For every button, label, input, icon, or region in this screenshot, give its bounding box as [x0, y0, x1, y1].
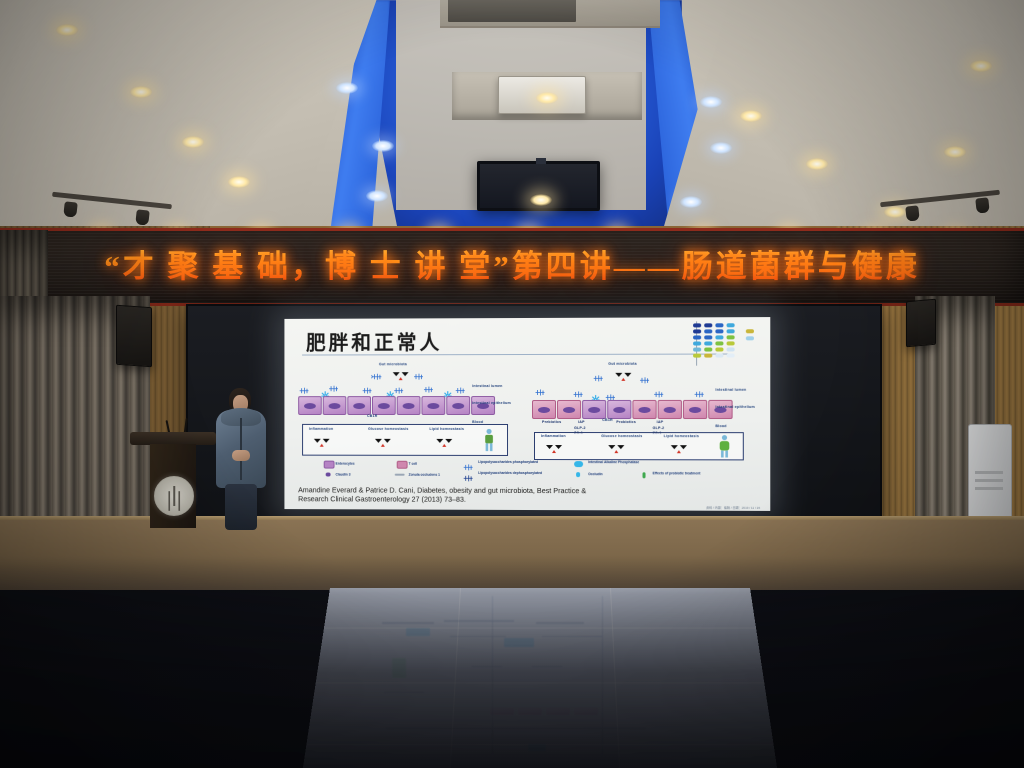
slide-legend: Enterocytes T cell Lipopolysaccharides p… [324, 460, 744, 487]
projected-slide: 肥胖和正常人 [284, 317, 770, 511]
legend-bacteria-phospho-icon [462, 459, 474, 468]
panel-left-summary-box: Inflammation Glucose homeostasis Lipid h… [302, 424, 508, 456]
legend-swatch-enterocytes [324, 461, 335, 469]
bacteria-icon [422, 381, 434, 390]
bacteria-icon [534, 384, 546, 393]
scale-balance-icon [545, 440, 563, 450]
citation-line-2: Research Clinical Gastroenterology 27 (2… [298, 495, 758, 506]
scale-balance-icon [614, 368, 632, 378]
downlight-icon [970, 60, 992, 72]
bacteria-icon [298, 382, 310, 391]
legend-swatch-probiotic [643, 472, 646, 478]
scale-balance-icon [670, 440, 688, 450]
legend-swatch-zo1 [395, 474, 405, 476]
inner-label-glp2-1: GLP-2 [574, 426, 586, 430]
legend-bacteria-dephospho-icon [462, 470, 474, 479]
inner-label-glp2-2: GLP-2 [653, 426, 665, 430]
downlight-icon [228, 176, 250, 188]
downlight-icon [182, 136, 204, 148]
presenter-hands [232, 450, 250, 461]
bacteria-icon [454, 382, 466, 391]
inner-label-prebiotics: Prebiotics [542, 420, 561, 424]
legend-label-lps-dephospho: Lipopolysaccharides dephosphorylated [478, 471, 558, 475]
axis-label-blood: Blood [715, 424, 726, 428]
summary-label-glucose: Glucose homeostasis [601, 434, 642, 438]
bacteria-icon [413, 368, 425, 377]
legend-label-occludin: Occludin [588, 472, 603, 476]
downlight-icon [806, 158, 828, 170]
slide-footer-note: 资料 / 内容：编辑 / 日期：2019 / 11 / 26 [706, 506, 760, 510]
summary-label-lipid: Lipid homeostasis [429, 427, 464, 431]
downlight-icon [366, 190, 388, 202]
scale-balance-icon [392, 367, 410, 377]
inner-label-iap-1: IAP [578, 420, 585, 424]
downlight-icon [130, 86, 152, 98]
human-figure-normal-icon [718, 434, 730, 458]
ceiling-panel-right [660, 0, 1024, 240]
legend-swatch-tcell [397, 461, 408, 469]
axis-label-lumen: Intestinal lumen [715, 388, 746, 392]
scale-balance-icon [313, 434, 331, 444]
downlight-icon [884, 206, 906, 218]
slide-title: 肥胖和正常人 [306, 326, 442, 355]
slide-decor-dotgrid [693, 323, 760, 364]
slide-citation: Amandine Everard & Patrice D. Cani, Diab… [298, 485, 758, 505]
air-vent-icon [448, 0, 576, 22]
ceiling-panel-left [0, 0, 380, 240]
bacteria-icon [638, 372, 650, 381]
wall-speaker-right [906, 299, 936, 348]
panel-right-header: Gut microbiota [608, 362, 637, 366]
axis-label-epithelium: Intestinal epithelium [472, 401, 511, 405]
panel-right-summary-box: Inflammation Glucose homeostasis Lipid h… [534, 432, 744, 460]
legend-label-enterocytes: Enterocytes [336, 462, 355, 466]
slide-title-rule [302, 354, 732, 356]
scale-balance-icon [435, 434, 453, 444]
legend-label-probiotic-effects: Effects of probiotic treatment [653, 471, 724, 475]
downlight-icon [710, 142, 732, 154]
epithelium-cell-row [532, 400, 733, 419]
downlight-icon [530, 194, 552, 206]
bacteria-icon [693, 386, 705, 395]
summary-label-inflammation: Inflammation [541, 434, 566, 438]
bacteria-icon [371, 368, 383, 377]
downlight-icon [56, 24, 78, 36]
bacteria-icon [572, 386, 584, 395]
legend-swatch-iap [574, 461, 583, 467]
inner-label-probiotics: Probiotics [616, 420, 636, 424]
audience-area: UDIOON SPACE SMT AGNU LY [0, 556, 1024, 768]
podium-emblem-icon [154, 476, 194, 516]
panel-left-junction-label: CB1R [367, 414, 377, 418]
presenter-legs [225, 484, 257, 530]
panel-left-header: Gut microbiota [379, 362, 407, 366]
wall-speaker-left [116, 305, 152, 368]
bacteria-icon [653, 386, 665, 395]
lecture-hall-photo: “才 聚 基 础，博 士 讲 堂”第四讲——肠道菌群与健康 “才 聚 基 础，博… [0, 0, 1024, 768]
scale-balance-icon [374, 434, 392, 444]
presenter [213, 388, 269, 528]
legend-label-tcell: T cell [409, 462, 418, 466]
legend-swatch-claudin3 [326, 473, 331, 477]
bacteria-icon [592, 370, 604, 379]
downlight-icon [680, 196, 702, 208]
downlight-icon [740, 110, 762, 122]
led-banner: “才 聚 基 础，博 士 讲 堂”第四讲——肠道菌群与健康 “才 聚 基 础，博… [0, 228, 1024, 306]
summary-label-lipid: Lipid homeostasis [664, 434, 699, 438]
legend-label-iap: Intestinal Alkaline Phosphatase [588, 460, 669, 464]
downlight-icon [700, 96, 722, 108]
panel-right-junction-label: CB1R [602, 418, 613, 422]
scale-balance-icon [607, 440, 625, 450]
axis-label-lumen: Intestinal lumen [472, 384, 502, 388]
summary-label-inflammation: Inflammation [309, 427, 333, 431]
downlight-icon [372, 140, 394, 152]
downlight-icon [944, 146, 966, 158]
downlight-icon [536, 92, 558, 104]
downlight-icon [336, 82, 358, 94]
legend-label-lps-phospho: Lipopolysaccharides phosphorylated [478, 460, 558, 464]
led-banner-text: “才 聚 基 础，博 士 讲 堂”第四讲——肠道菌群与健康 [0, 241, 1024, 286]
bacteria-icon [361, 382, 373, 391]
legend-swatch-occludin [576, 472, 580, 477]
inner-label-iap-2: IAP [657, 420, 664, 424]
podium [130, 432, 216, 528]
epithelium-cell-row [298, 396, 495, 415]
summary-label-glucose: Glucose homeostasis [368, 427, 408, 431]
slide-panel-right: Gut microbiota CB1R Prebiotics IAP Probi… [528, 362, 762, 459]
presenter-zipper [240, 418, 242, 480]
legend-label-zo1: Zonula occludens 1 [409, 473, 440, 477]
ceiling [0, 0, 1024, 232]
human-figure-obese-icon [483, 428, 495, 452]
bacteria-icon [604, 389, 616, 398]
legend-label-claudin3: Claudin 3 [336, 473, 351, 477]
slide-panel-left: Gut microbiota [294, 362, 520, 458]
axis-label-epithelium: Intestinal epithelium [715, 405, 755, 409]
